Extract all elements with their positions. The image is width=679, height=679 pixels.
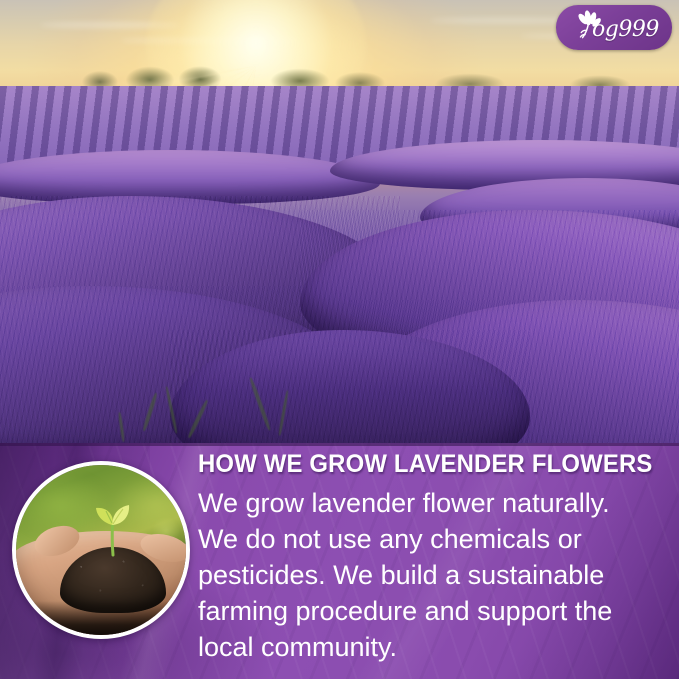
description-line: farming procedure and support the bbox=[198, 593, 670, 629]
description-line: We grow lavender flower naturally. bbox=[198, 485, 670, 521]
lavender-row-center-near bbox=[170, 330, 530, 444]
description-line: local community. bbox=[198, 629, 670, 665]
description-text: We grow lavender flower naturally. We do… bbox=[198, 485, 670, 665]
seedling-circle-photo bbox=[12, 461, 190, 639]
foreground-soil-shadow bbox=[16, 601, 186, 635]
page-title: HOW WE GROW LAVENDER FLOWERS bbox=[198, 450, 647, 479]
description-line: We do not use any chemicals or bbox=[198, 521, 670, 557]
panel-top-edge bbox=[0, 443, 679, 446]
product-listing-image: og999 HOW WE GROW LAVENDER FLOWERS We gr… bbox=[0, 0, 679, 679]
lavender-field-hero-photo bbox=[0, 0, 679, 444]
brand-name-text: og999 bbox=[592, 19, 672, 41]
brand-logo-badge[interactable]: og999 bbox=[556, 5, 672, 50]
seedling-icon bbox=[82, 497, 144, 559]
description-line: pesticides. We build a sustainable bbox=[198, 557, 670, 593]
